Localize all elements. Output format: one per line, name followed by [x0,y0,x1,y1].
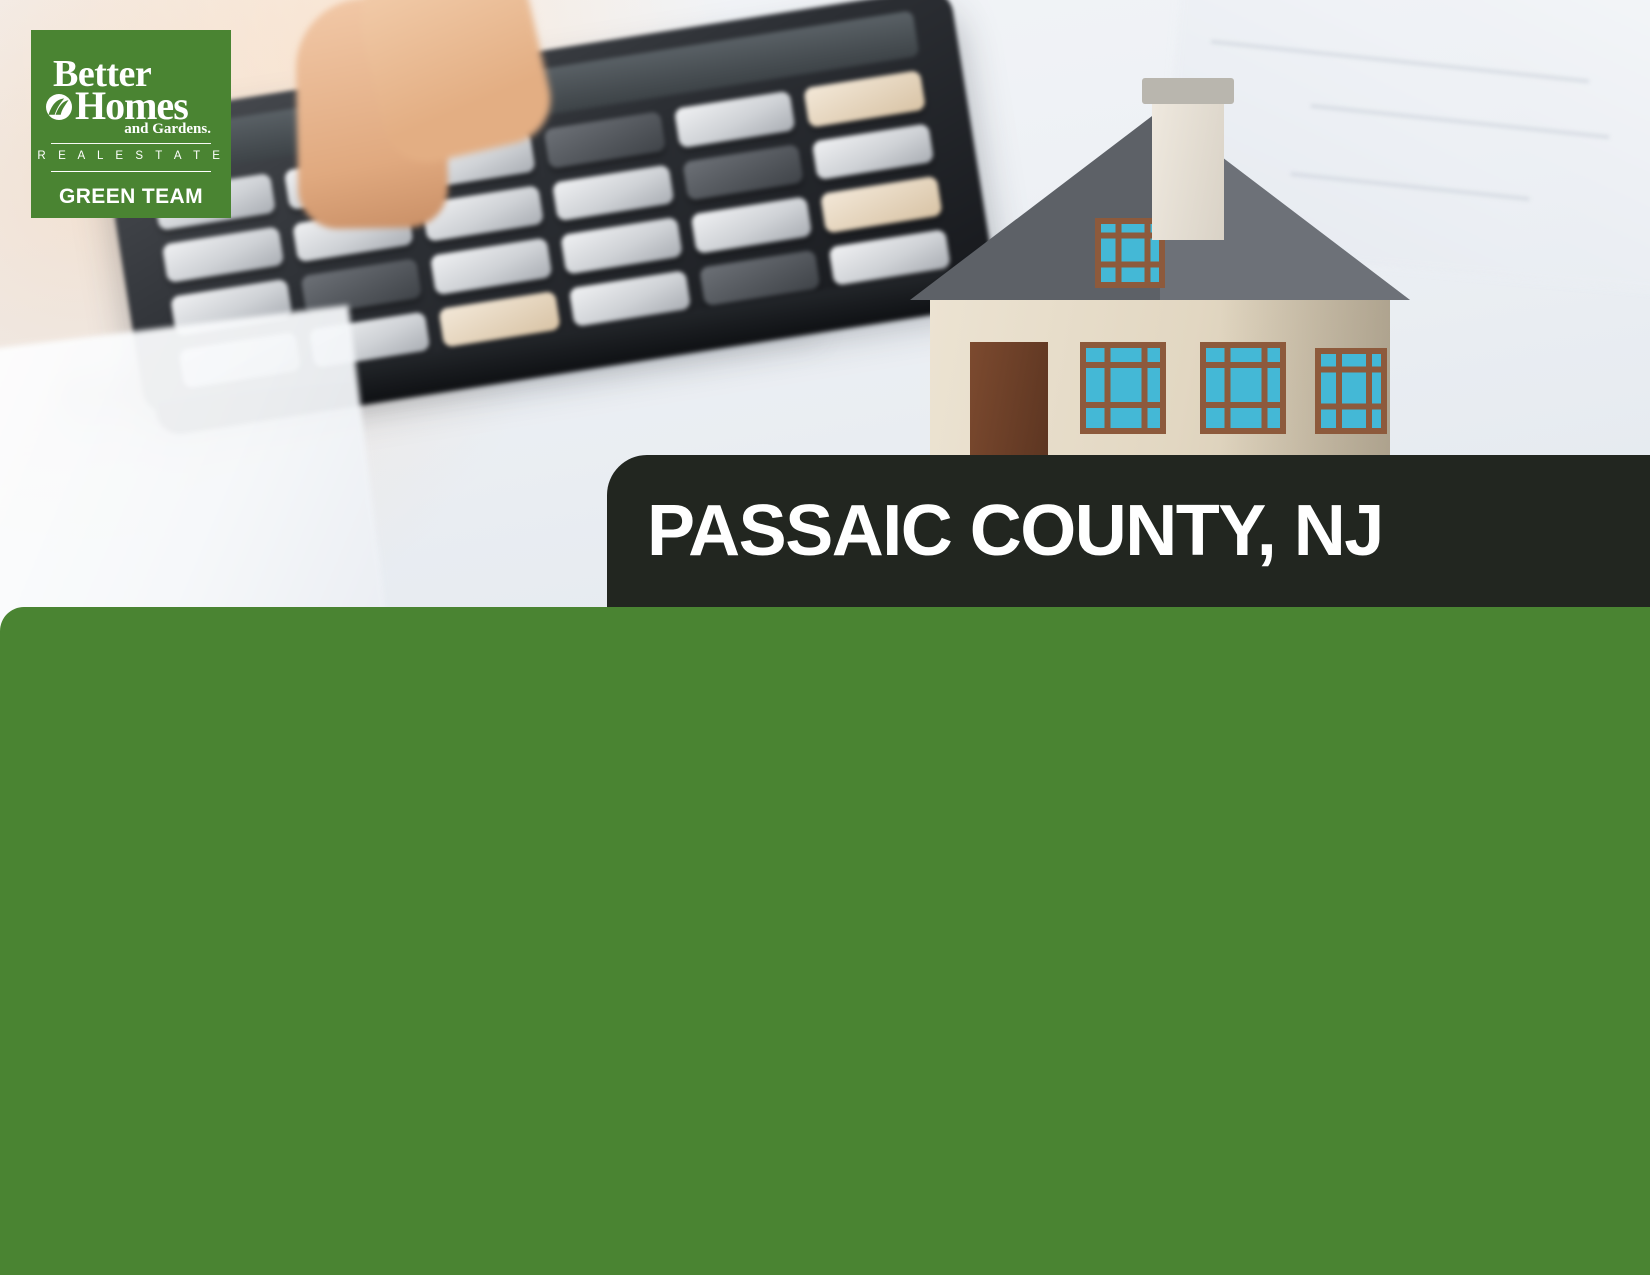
infographic-page: Better Homes and Gardens. R E A L E S T … [0,0,1650,1275]
stats-panel [0,607,1650,1275]
house-window [1200,342,1286,434]
paper-sheet-bottom-left [0,305,389,640]
house-window [1315,348,1387,434]
logo-team-text: GREEN TEAM [31,185,231,209]
brand-logo[interactable]: Better Homes and Gardens. R E A L E S T … [31,30,231,218]
logo-and-gardens-text: and Gardens. [31,122,231,136]
logo-divider [51,171,211,172]
logo-homes-text: Homes [75,88,188,124]
logo-homes-row: Homes [31,88,231,124]
title-banner: PASSAIC COUNTY, NJ [607,455,1650,607]
logo-divider [51,143,211,144]
model-house-image [920,90,1420,490]
logo-real-estate-text: R E A L E S T A T E [31,150,231,162]
page-title: PASSAIC COUNTY, NJ [607,490,1383,572]
house-door [970,342,1048,470]
house-window [1080,342,1166,434]
house-chimney-cap [1142,78,1234,104]
house-chimney [1152,90,1224,240]
leaf-icon [45,94,73,120]
